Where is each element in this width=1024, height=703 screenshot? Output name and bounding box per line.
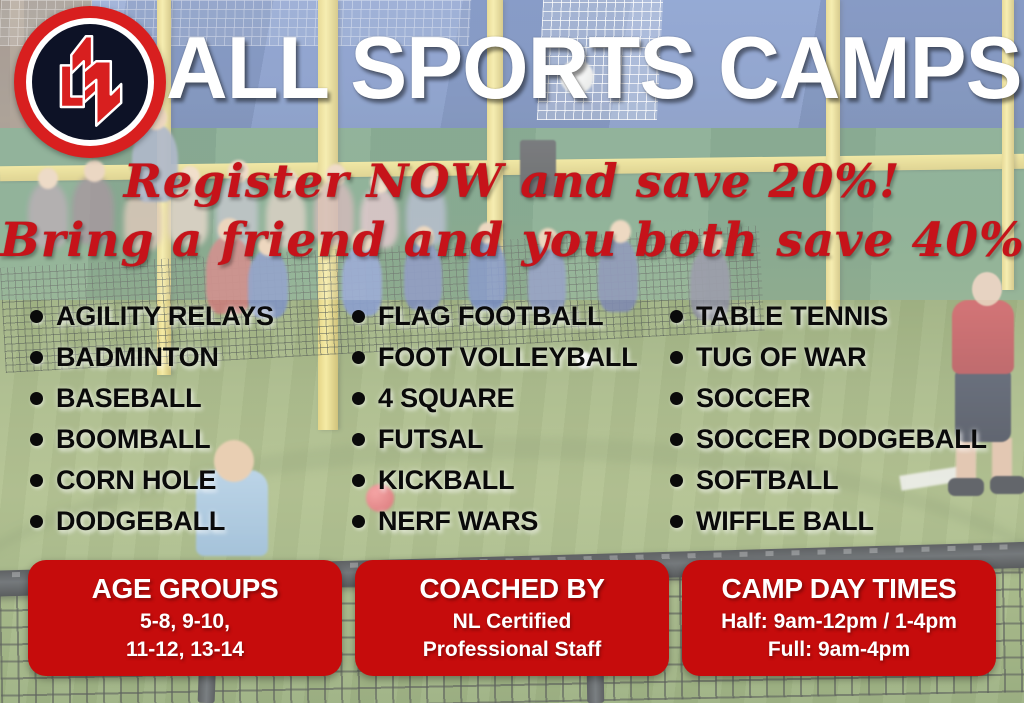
bullet-icon [30,474,43,487]
sport-label: SOCCER [696,383,810,414]
list-item: FOOT VOLLEYBALL [352,337,670,378]
list-item: SOCCER DODGEBALL [670,419,1024,460]
bullet-icon [352,351,365,364]
bullet-icon [670,474,683,487]
list-item: FLAG FOOTBALL [352,296,670,337]
info-box-title: CAMP DAY TIMES [722,573,957,605]
list-item: SOCCER [670,378,1024,419]
sport-label: FOOT VOLLEYBALL [378,342,638,373]
logo-white-ring [26,18,154,146]
list-item: TABLE TENNIS [670,296,1024,337]
bullet-icon [670,515,683,528]
nl-logo-badge [14,6,166,158]
info-box-line: 11-12, 13-14 [126,636,244,664]
list-item: BADMINTON [30,337,340,378]
info-box-title: AGE GROUPS [92,573,279,605]
bullet-icon [352,392,365,405]
bullet-icon [30,310,43,323]
list-item: FUTSAL [352,419,670,460]
sport-label: FUTSAL [378,424,483,455]
bullet-icon [670,433,683,446]
sport-label: WIFFLE BALL [696,506,874,537]
sport-label: SOCCER DODGEBALL [696,424,987,455]
bullet-icon [352,433,365,446]
sport-label: BADMINTON [56,342,219,373]
sport-label: TUG OF WAR [696,342,866,373]
list-item: SOFTBALL [670,460,1024,501]
nl-lightning-monogram-icon [38,30,142,134]
list-item: TUG OF WAR [670,337,1024,378]
bullet-icon [30,433,43,446]
list-item: NERF WARS [352,501,670,542]
bullet-icon [30,392,43,405]
flyer-content: ALL SPORTS CAMPS Register NOW and save 2… [0,0,1024,703]
bullet-icon [30,351,43,364]
logo-dark-core [32,24,148,140]
list-item: WIFFLE BALL [670,501,1024,542]
all-sports-camps-flyer: ALL SPORTS CAMPS Register NOW and save 2… [0,0,1024,703]
info-box-line: Full: 9am-4pm [768,636,910,664]
info-box-coached-by: COACHED BY NL Certified Professional Sta… [355,560,669,676]
sport-label: FLAG FOOTBALL [378,301,603,332]
list-item: DODGEBALL [30,501,340,542]
info-box-camp-day-times: CAMP DAY TIMES Half: 9am-12pm / 1-4pm Fu… [682,560,996,676]
sport-label: TABLE TENNIS [696,301,888,332]
sport-label: NERF WARS [378,506,538,537]
list-item: BASEBALL [30,378,340,419]
bullet-icon [352,515,365,528]
list-item: KICKBALL [352,460,670,501]
sport-label: SOFTBALL [696,465,838,496]
info-boxes: AGE GROUPS 5-8, 9-10, 11-12, 13-14 COACH… [0,560,1024,685]
sports-column-2: FLAG FOOTBALL FOOT VOLLEYBALL 4 SQUARE F… [340,296,670,542]
info-box-line: 5-8, 9-10, [140,608,230,636]
sports-column-1: AGILITY RELAYS BADMINTON BASEBALL BOOMBA… [0,296,340,542]
list-item: BOOMBALL [30,419,340,460]
sports-column-3: TABLE TENNIS TUG OF WAR SOCCER SOCCER DO… [670,296,1024,542]
bullet-icon [670,392,683,405]
bullet-icon [30,515,43,528]
sport-label: BOOMBALL [56,424,210,455]
sport-label: BASEBALL [56,383,201,414]
list-item: AGILITY RELAYS [30,296,340,337]
page-title: ALL SPORTS CAMPS [166,24,1022,112]
bullet-icon [670,310,683,323]
sport-label: CORN HOLE [56,465,216,496]
sport-label: 4 SQUARE [378,383,514,414]
bullet-icon [670,351,683,364]
promo-line-1: Register NOW and save 20%! [0,152,1024,211]
promo-block: Register NOW and save 20%! Bring a frien… [0,152,1024,271]
list-item: CORN HOLE [30,460,340,501]
sports-columns: AGILITY RELAYS BADMINTON BASEBALL BOOMBA… [0,296,1024,542]
info-box-line: Half: 9am-12pm / 1-4pm [721,608,957,636]
list-item: 4 SQUARE [352,378,670,419]
sport-label: DODGEBALL [56,506,225,537]
info-box-line: Professional Staff [423,636,602,664]
info-box-age-groups: AGE GROUPS 5-8, 9-10, 11-12, 13-14 [28,560,342,676]
promo-line-2: Bring a friend and you both save 40%! [0,211,1024,271]
info-box-title: COACHED BY [419,573,604,605]
sport-label: KICKBALL [378,465,514,496]
sport-label: AGILITY RELAYS [56,301,274,332]
bullet-icon [352,474,365,487]
info-box-line: NL Certified [453,608,572,636]
bullet-icon [352,310,365,323]
